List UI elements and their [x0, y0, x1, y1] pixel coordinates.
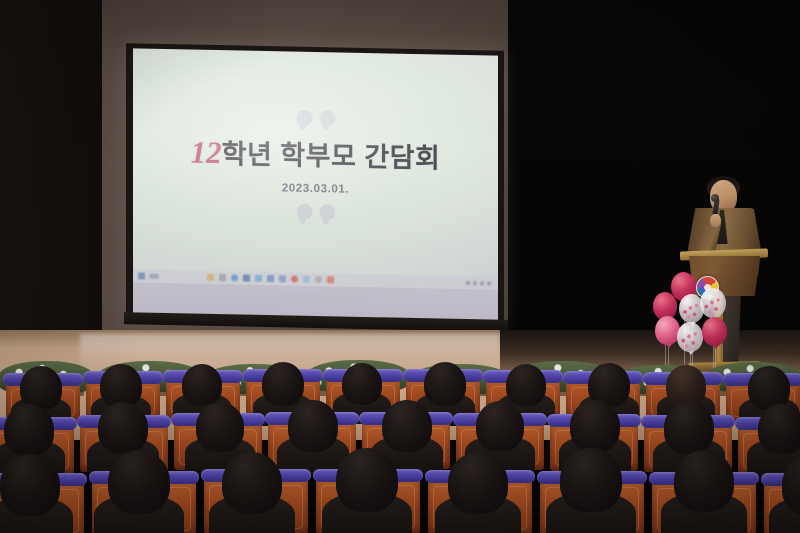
microphone-icon — [711, 194, 719, 202]
slide-title-text: 학년 학부모 간담회 — [222, 139, 441, 173]
audience-member-head — [666, 365, 706, 407]
tray-volume-icon[interactable] — [480, 281, 484, 285]
quote-bubbles-bottom-icon — [296, 204, 335, 221]
speaker-hand — [710, 214, 721, 227]
settings-icon[interactable] — [315, 276, 322, 283]
audience-member-head — [758, 404, 800, 454]
audience-member-head — [674, 450, 734, 512]
balloon-red-3 — [702, 317, 727, 346]
presentation-slide: 12학년 학부모 간담회 2023.03.01. — [133, 48, 498, 321]
slide-date: 2023.03.01. — [133, 179, 498, 198]
tray-chevron-up-icon[interactable] — [466, 281, 470, 285]
audience-member-head — [382, 400, 432, 452]
audience-member-head — [108, 450, 170, 514]
audience-member-head — [288, 400, 338, 452]
audience-member-head — [560, 448, 622, 512]
balloon-pink-1 — [655, 316, 680, 345]
word-icon[interactable] — [243, 275, 250, 282]
left-curtain-panel — [0, 0, 102, 342]
audience-member-head — [336, 448, 398, 512]
taskbar-system-tray[interactable] — [466, 281, 494, 286]
audience-member-head — [0, 454, 60, 516]
slide-title-number: 12 — [191, 134, 222, 170]
audience-member-head — [476, 401, 524, 451]
media-icon[interactable] — [327, 276, 334, 283]
audience-member-head — [4, 404, 54, 456]
seated-audience — [0, 362, 800, 533]
edge-icon[interactable] — [231, 274, 238, 281]
audience-member-head — [424, 362, 466, 406]
audience-member-head — [448, 452, 508, 514]
taskbar-app-icons[interactable] — [207, 274, 334, 284]
balloon-clear-3 — [677, 322, 703, 352]
start-icon[interactable] — [138, 272, 145, 279]
audience-member-head — [182, 364, 222, 406]
store-icon[interactable] — [267, 275, 274, 282]
audience-member-head — [262, 362, 304, 406]
audience-member-head — [506, 364, 546, 406]
audience-member-head — [98, 402, 148, 454]
audience-member-head — [342, 363, 382, 405]
taskview-icon[interactable] — [219, 274, 226, 281]
quote-bubbles-top-icon — [296, 110, 335, 127]
hancom-icon[interactable] — [303, 276, 310, 283]
search-icon[interactable] — [149, 274, 159, 279]
tray-network-icon[interactable] — [473, 281, 477, 285]
mail-icon[interactable] — [255, 275, 262, 282]
auditorium-photo: 12학년 학부모 간담회 2023.03.01. — [0, 0, 800, 533]
audience-member-head — [664, 402, 714, 454]
explorer-icon[interactable] — [207, 274, 214, 281]
balloon-clear-2 — [700, 288, 726, 318]
audience-member-head — [222, 452, 282, 514]
audience-member-head — [196, 402, 244, 452]
projection-screen: 12학년 학부모 간담회 2023.03.01. — [133, 48, 498, 321]
powerpoint-icon[interactable] — [279, 275, 286, 282]
slide-title: 12학년 학부모 간담회 — [133, 130, 498, 176]
chrome-icon[interactable] — [291, 276, 298, 283]
tray-battery-icon[interactable] — [487, 281, 491, 285]
audience-member-head — [570, 400, 620, 452]
